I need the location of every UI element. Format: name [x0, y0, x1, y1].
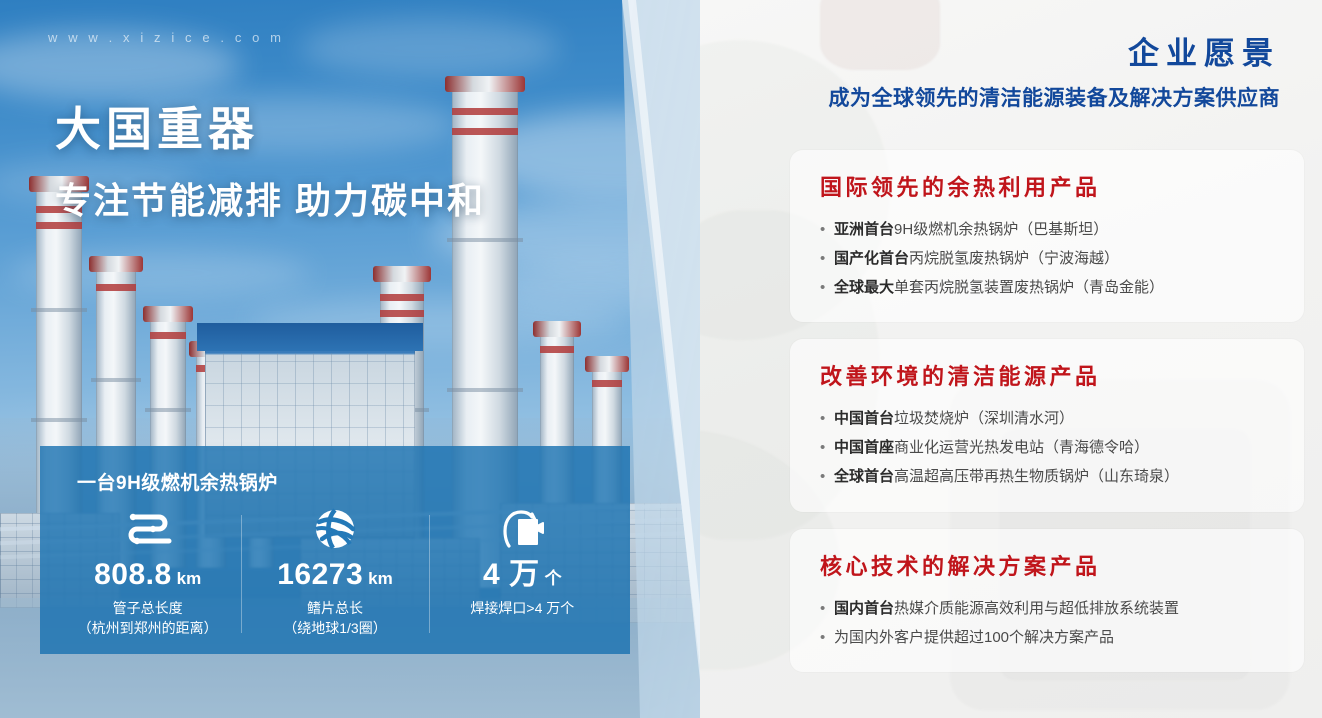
headline-secondary: 专注节能减排 助力碳中和 [55, 172, 485, 224]
stat-unit: km [177, 570, 202, 587]
globe-icon [247, 507, 422, 551]
vision-card-heading: 核心技术的解决方案产品 [820, 549, 1278, 581]
bullet-strong: 国产化首台 [834, 250, 909, 267]
stat-value: 16273 [277, 560, 363, 590]
vision-card: 国际领先的余热利用产品 亚洲首台9H级燃机余热锅炉（巴基斯坦） 国产化首台丙烷脱… [790, 150, 1304, 322]
stat-item: 4 万 个 焊接焊口>4 万个 [429, 507, 616, 639]
headline-primary: 大国重器 [55, 102, 485, 156]
vision-card-list: 国际领先的余热利用产品 亚洲首台9H级燃机余热锅炉（巴基斯坦） 国产化首台丙烷脱… [790, 150, 1304, 672]
bullet-rest: 热媒介质能源高效利用与超低排放系统装置 [894, 600, 1179, 617]
bullet-strong: 国内首台 [834, 600, 894, 617]
vision-card-heading: 国际领先的余热利用产品 [820, 170, 1278, 202]
stat-value-group: 4 万 个 [435, 560, 610, 590]
vision-card: 核心技术的解决方案产品 国内首台热媒介质能源高效利用与超低排放系统装置 为国内外… [790, 529, 1304, 673]
bullet-rest: 为国内外客户提供超过100个解决方案产品 [834, 629, 1114, 646]
stat-value: 808.8 [94, 560, 172, 590]
stat-item: 16273 km 鳍片总长 （绕地球1/3圈） [241, 507, 428, 639]
hero-headline: 大国重器 专注节能减排 助力碳中和 [55, 102, 485, 224]
bullet-rest: 9H级燃机余热锅炉（巴基斯坦） [894, 221, 1108, 238]
bullet-strong: 亚洲首台 [834, 221, 894, 238]
bullet-strong: 中国首座 [834, 439, 894, 456]
stat-unit: 个 [545, 570, 562, 587]
vision-panel: 企业愿景 成为全球领先的清洁能源装备及解决方案供应商 国际领先的余热利用产品 亚… [700, 0, 1322, 718]
watermark-shape [820, 0, 940, 70]
list-item: 全球最大单套丙烷脱氢装置废热锅炉（青岛金能） [820, 274, 1278, 303]
vision-card-bullets: 中国首台垃圾焚烧炉（深圳清水河） 中国首座商业化运营光热发电站（青海德令哈） 全… [820, 405, 1278, 491]
slide-root: w w w . x i z i c e . c o m 大国重器 专注节能减排 … [0, 0, 1322, 718]
stat-label-line1: 焊接焊口>4 万个 [435, 598, 610, 618]
welding-mask-icon [435, 507, 610, 551]
stat-label: 焊接焊口>4 万个 [435, 598, 610, 618]
list-item: 国内首台热媒介质能源高效利用与超低排放系统装置 [820, 595, 1278, 624]
stats-columns: 808.8 km 管子总长度 （杭州到郑州的距离） [40, 507, 630, 639]
stat-unit: km [368, 570, 393, 587]
stat-label: 鳍片总长 （绕地球1/3圈） [247, 598, 422, 639]
vision-card-bullets: 国内首台热媒介质能源高效利用与超低排放系统装置 为国内外客户提供超过100个解决… [820, 595, 1278, 653]
bullet-rest: 丙烷脱氢废热锅炉（宁波海越） [909, 250, 1119, 267]
list-item: 亚洲首台9H级燃机余热锅炉（巴基斯坦） [820, 216, 1278, 245]
list-item: 国产化首台丙烷脱氢废热锅炉（宁波海越） [820, 245, 1278, 274]
cloud [300, 18, 560, 78]
serpentine-tube-icon [60, 507, 235, 551]
stat-label-line2: （绕地球1/3圈） [247, 618, 422, 638]
stats-panel-title: 一台9H级燃机余热锅炉 [77, 468, 630, 495]
list-item: 中国首台垃圾焚烧炉（深圳清水河） [820, 405, 1278, 434]
stat-item: 808.8 km 管子总长度 （杭州到郑州的距离） [54, 507, 241, 639]
stat-label-line2: （杭州到郑州的距离） [60, 618, 235, 638]
vision-card: 改善环境的清洁能源产品 中国首台垃圾焚烧炉（深圳清水河） 中国首座商业化运营光热… [790, 339, 1304, 511]
vision-card-heading: 改善环境的清洁能源产品 [820, 359, 1278, 391]
stat-label: 管子总长度 （杭州到郑州的距离） [60, 598, 235, 639]
stat-label-line1: 鳍片总长 [247, 598, 422, 618]
stat-value-group: 808.8 km [60, 560, 235, 590]
hero-photo-panel: w w w . x i z i c e . c o m 大国重器 专注节能减排 … [0, 0, 760, 718]
list-item: 中国首座商业化运营光热发电站（青海德令哈） [820, 434, 1278, 463]
stat-label-line1: 管子总长度 [60, 598, 235, 618]
bullet-rest: 单套丙烷脱氢装置废热锅炉（青岛金能） [894, 279, 1164, 296]
stat-value-group: 16273 km [247, 560, 422, 590]
bullet-rest: 商业化运营光热发电站（青海德令哈） [894, 439, 1149, 456]
list-item: 全球首台高温超高压带再热生物质锅炉（山东琦泉） [820, 463, 1278, 492]
list-item: 为国内外客户提供超过100个解决方案产品 [820, 624, 1278, 653]
bullet-strong: 全球最大 [834, 279, 894, 296]
page-subtitle: 成为全球领先的清洁能源装备及解决方案供应商 [829, 82, 1281, 112]
stat-value: 4 万 [483, 560, 540, 590]
site-url-watermark: w w w . x i z i c e . c o m [48, 30, 285, 45]
page-title: 企业愿景 [1128, 28, 1280, 73]
bullet-rest: 高温超高压带再热生物质锅炉（山东琦泉） [894, 468, 1179, 485]
bullet-strong: 中国首台 [834, 410, 894, 427]
vision-card-bullets: 亚洲首台9H级燃机余热锅炉（巴基斯坦） 国产化首台丙烷脱氢废热锅炉（宁波海越） … [820, 216, 1278, 302]
stats-panel: 一台9H级燃机余热锅炉 808.8 km [40, 446, 630, 654]
bullet-rest: 垃圾焚烧炉（深圳清水河） [894, 410, 1074, 427]
bullet-strong: 全球首台 [834, 468, 894, 485]
